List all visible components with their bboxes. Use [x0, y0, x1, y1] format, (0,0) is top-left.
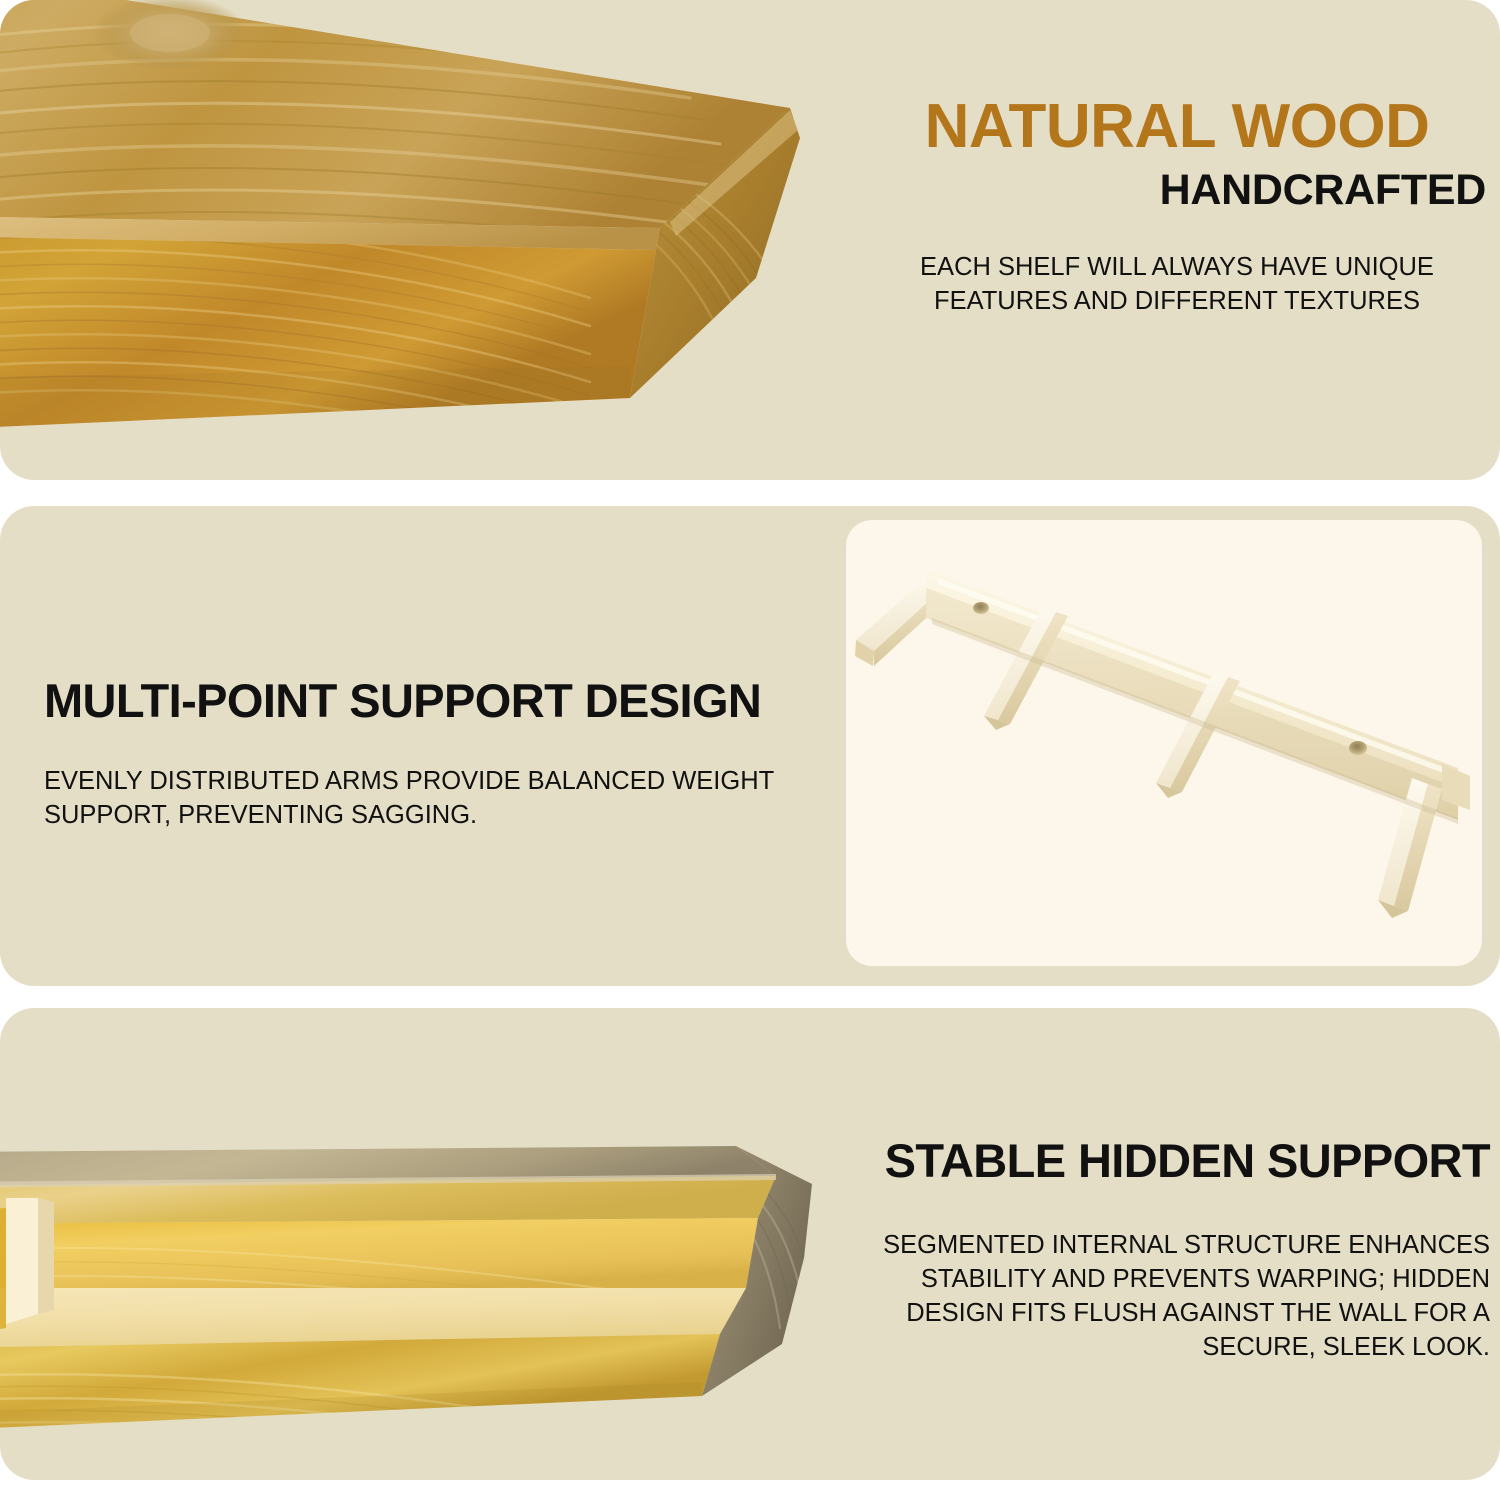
panel-stable-hidden-title: STABLE HIDDEN SUPPORT: [862, 1136, 1490, 1185]
panel-natural-wood: NATURAL WOOD HANDCRAFTED EACH SHELF WILL…: [0, 0, 1500, 480]
bracket-image-card: [846, 520, 1482, 966]
panel-multi-point-copy: MULTI-POINT SUPPORT DESIGN EVENLY DISTRI…: [44, 676, 834, 833]
panel-natural-wood-title: NATURAL WOOD: [862, 96, 1492, 158]
hollow-shelf-photo: [0, 1138, 866, 1468]
mounting-bracket-photo: [846, 520, 1482, 966]
panel-natural-wood-subtitle: HANDCRAFTED: [862, 168, 1492, 213]
panel-multi-point-support: MULTI-POINT SUPPORT DESIGN EVENLY DISTRI…: [0, 506, 1500, 986]
infographic-root: NATURAL WOOD HANDCRAFTED EACH SHELF WILL…: [0, 0, 1500, 1489]
panel-stable-hidden-copy: STABLE HIDDEN SUPPORT SEGMENTED INTERNAL…: [862, 1136, 1490, 1365]
wood-shelf-block-photo: [0, 0, 870, 448]
panel-multi-point-body: EVENLY DISTRIBUTED ARMS PROVIDE BALANCED…: [44, 765, 834, 833]
panel-stable-hidden-body: SEGMENTED INTERNAL STRUCTURE ENHANCES ST…: [862, 1229, 1490, 1365]
panel-multi-point-title: MULTI-POINT SUPPORT DESIGN: [44, 676, 834, 725]
panel-natural-wood-copy: NATURAL WOOD HANDCRAFTED EACH SHELF WILL…: [862, 96, 1492, 319]
panel-natural-wood-body: EACH SHELF WILL ALWAYS HAVE UNIQUE FEATU…: [862, 251, 1492, 319]
panel-stable-hidden-support: STABLE HIDDEN SUPPORT SEGMENTED INTERNAL…: [0, 1008, 1500, 1480]
